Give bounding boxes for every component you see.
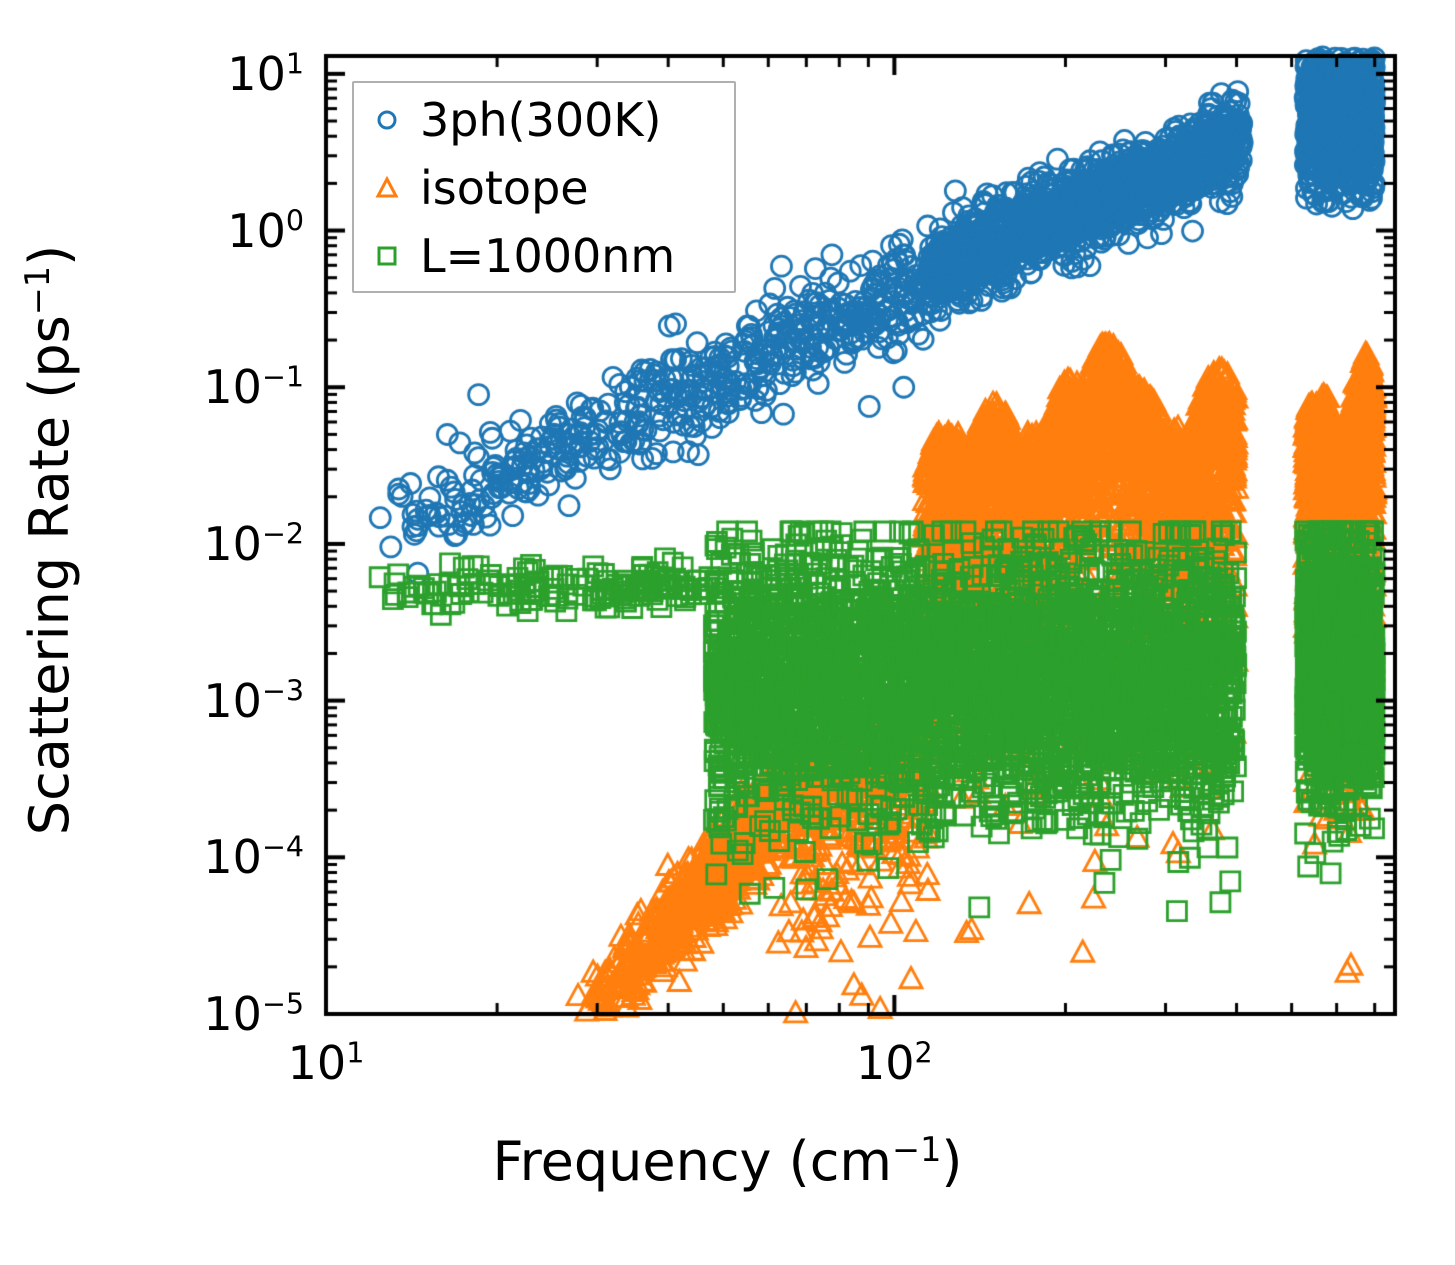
y-axis-label-wrapper: Scattering Rate (ps−1) — [15, 0, 85, 1120]
y-tick-label: 10−1 — [203, 360, 304, 414]
y-tick-label: 100 — [227, 204, 304, 258]
legend: 3ph(300K) isotope L=1000nm — [352, 81, 736, 293]
x-tick-label: 102 — [856, 1036, 933, 1090]
y-axis-label: Scattering Rate (ps−1) — [15, 0, 85, 1120]
x-tick-label: 101 — [288, 1036, 365, 1090]
legend-entry-boundary: L=1000nm — [354, 225, 734, 287]
legend-label-isotope: isotope — [420, 165, 589, 211]
triangle-marker-icon — [354, 175, 420, 201]
legend-label-boundary: L=1000nm — [420, 233, 675, 279]
y-tick-label: 10−4 — [203, 830, 304, 884]
square-marker-icon — [354, 243, 420, 269]
x-axis-label: Frequency (cm−1) — [0, 1130, 1455, 1193]
y-tick-label: 10−5 — [203, 987, 304, 1041]
figure-container: 3ph(300K) isotope L=1000nm Scattering Ra… — [0, 0, 1455, 1265]
y-tick-label: 10−2 — [203, 517, 304, 571]
legend-entry-isotope: isotope — [354, 157, 734, 219]
y-tick-label: 10−3 — [203, 674, 304, 728]
legend-entry-3ph: 3ph(300K) — [354, 89, 734, 151]
y-tick-label: 101 — [227, 47, 304, 101]
circle-marker-icon — [354, 107, 420, 133]
legend-label-3ph: 3ph(300K) — [420, 97, 661, 143]
